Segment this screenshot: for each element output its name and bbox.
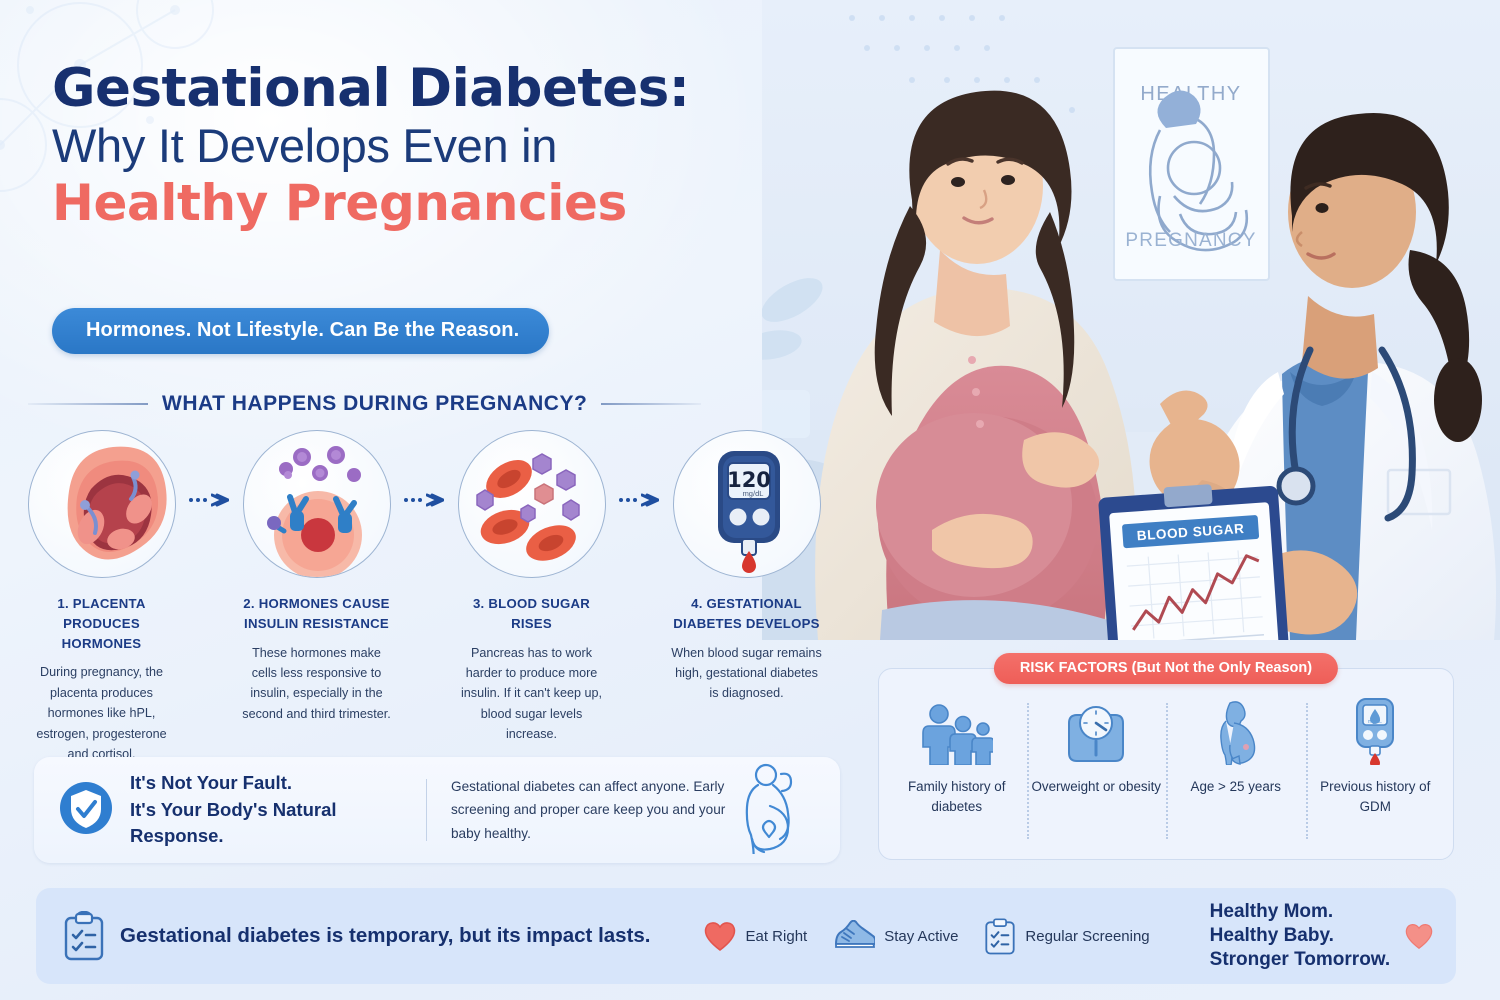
reassurance-headline: It's Not Your Fault. It's Your Body's Na…	[130, 770, 420, 850]
arrow-head-icon	[641, 492, 659, 508]
step-2-title: 2. HORMONES CAUSE INSULIN RESISTANCE	[233, 594, 400, 634]
step-1: 1. PLACENTA PRODUCES HORMONES During pre…	[18, 430, 185, 764]
heart-icon	[703, 920, 737, 952]
arrow-dot	[619, 498, 623, 502]
risk-factor-item: Family history of diabetes	[887, 699, 1027, 849]
section-rule-left	[28, 403, 148, 405]
checklist-clipboard-icon	[58, 911, 110, 961]
risk-factors-panel: RISK FACTORS (But Not the Only Reason)	[878, 668, 1454, 860]
arrow-dot	[196, 498, 200, 502]
step-4: 120 mg/dL 4. GESTATIONAL DIABETES DEVELO…	[663, 430, 830, 704]
step-2-body: These hormones make cells less responsiv…	[233, 643, 400, 725]
risk-factor-label: Overweight or obesity	[1032, 777, 1162, 797]
arrow-dot	[411, 498, 415, 502]
family-icon	[921, 699, 993, 765]
step-3-body: Pancreas has to work harder to produce m…	[448, 643, 615, 745]
pregnant-woman-outline-icon	[726, 762, 816, 859]
footer-tip-label: Eat Right	[746, 928, 808, 945]
section-title: WHAT HAPPENS DURING PREGNANCY?	[162, 392, 587, 416]
reassurance-body: Gestational diabetes can affect anyone. …	[451, 775, 726, 846]
arrow-dot	[404, 498, 408, 502]
risk-factor-item: Age > 25 years	[1166, 699, 1306, 849]
footer-tip-label: Regular Screening	[1025, 928, 1149, 945]
section-rule-right	[601, 403, 701, 405]
risk-factor-label: Family history of diabetes	[887, 777, 1027, 817]
risk-factors-heading: RISK FACTORS (But Not the Only Reason)	[994, 653, 1338, 684]
infographic-page: HEALTHY PREGNANCY	[0, 0, 1500, 1000]
meter-unit: mg/dL	[742, 489, 763, 498]
footer-tagline: Gestational diabetes is temporary, but i…	[120, 924, 651, 948]
arrow-dot	[626, 498, 630, 502]
page-title: Gestational Diabetes: Why It Develops Ev…	[52, 62, 752, 233]
footer-final-line1: Healthy Mom.	[1210, 900, 1391, 924]
step-1-body: During pregnancy, the placenta produces …	[18, 662, 185, 764]
pregnant-woman-icon	[1210, 699, 1262, 765]
footer-final-line3: Stronger Tomorrow.	[1210, 948, 1391, 972]
running-shoe-icon	[833, 920, 875, 952]
footer-tip-label: Stay Active	[884, 928, 958, 945]
glucose-meter-icon: mg/dL	[1349, 699, 1401, 765]
section-header: WHAT HAPPENS DURING PREGNANCY?	[28, 392, 828, 416]
arrow-dot	[633, 498, 637, 502]
title-line-3: Healthy Pregnancies	[52, 174, 752, 233]
step-4-title: 4. GESTATIONAL DIABETES DEVELOPS	[663, 594, 830, 634]
footer-tip-eat-right: Eat Right	[703, 920, 808, 952]
wall-poster: HEALTHY PREGNANCY	[1114, 48, 1269, 280]
blood-sugar-clipboard: BLOOD SUGAR	[1098, 479, 1294, 640]
subtitle-pill: Hormones. Not Lifestyle. Can Be the Reas…	[52, 308, 549, 354]
step-arrow-2	[400, 492, 448, 508]
placenta-illustration	[28, 430, 176, 578]
glucose-meter-illustration: 120 mg/dL	[673, 430, 821, 578]
cell-insulin-receptor-illustration	[243, 430, 391, 578]
risk-factor-item: mg/dL Previous history of GDM	[1306, 699, 1446, 849]
step-3-title: 3. BLOOD SUGAR RISES	[448, 594, 615, 634]
risk-factor-label: Previous history of GDM	[1306, 777, 1446, 817]
step-arrow-3	[615, 492, 663, 508]
checklist-clipboard-icon	[984, 917, 1016, 955]
reassurance-panel: It's Not Your Fault. It's Your Body's Na…	[34, 757, 840, 863]
footer-tips: Eat Right Stay Active	[703, 917, 1150, 955]
arrow-dot	[189, 498, 193, 502]
footer-bar: Gestational diabetes is temporary, but i…	[36, 888, 1456, 984]
title-line-2: Why It Develops Even in	[52, 117, 752, 174]
arrow-dot	[203, 498, 207, 502]
weight-scale-icon	[1063, 699, 1129, 765]
footer-final-line2: Healthy Baby.	[1210, 924, 1391, 948]
risk-factor-label: Age > 25 years	[1191, 777, 1281, 797]
footer-tip-stay-active: Stay Active	[833, 920, 958, 952]
step-4-body: When blood sugar remains high, gestation…	[663, 643, 830, 704]
risk-factor-item: Overweight or obesity	[1027, 699, 1167, 849]
arrow-dot	[418, 498, 422, 502]
step-1-title: 1. PLACENTA PRODUCES HORMONES	[18, 594, 185, 653]
reassurance-headline-line2: It's Your Body's Natural Response.	[130, 797, 420, 851]
reassurance-divider	[426, 779, 427, 841]
step-2: 2. HORMONES CAUSE INSULIN RESISTANCE The…	[233, 430, 400, 724]
step-3: 3. BLOOD SUGAR RISES Pancreas has to wor…	[448, 430, 615, 745]
blood-cells-illustration	[458, 430, 606, 578]
svg-text:mg/dL: mg/dL	[1368, 719, 1382, 725]
reassurance-headline-line1: It's Not Your Fault.	[130, 770, 420, 797]
title-line-1: Gestational Diabetes:	[52, 62, 752, 117]
heart-icon	[1404, 922, 1434, 950]
poster-title-line2: PREGNANCY	[1125, 230, 1256, 251]
footer-tip-regular-screening: Regular Screening	[984, 917, 1149, 955]
footer-closing-message: Healthy Mom. Healthy Baby. Stronger Tomo…	[1210, 900, 1435, 973]
arrow-head-icon	[426, 492, 444, 508]
consultation-illustration: HEALTHY PREGNANCY	[762, 0, 1500, 640]
process-steps: 1. PLACENTA PRODUCES HORMONES During pre…	[18, 430, 830, 764]
shield-check-icon	[58, 780, 120, 841]
step-arrow-1	[185, 492, 233, 508]
arrow-head-icon	[211, 492, 229, 508]
